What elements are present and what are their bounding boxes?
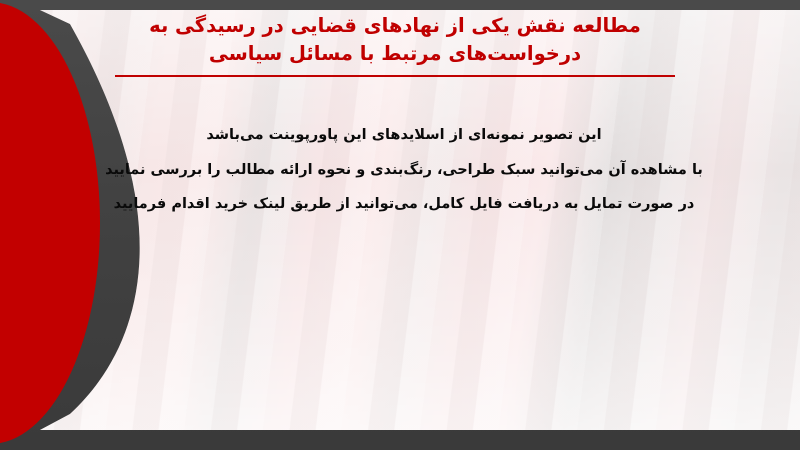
- body-line-3: در صورت تمایل به دریافت فایل کامل، می‌تو…: [104, 187, 704, 222]
- page-title: مطالعه نقش یکی از نهادهای قضایی در رسیدگ…: [100, 12, 690, 69]
- slide-title-block: مطالعه نقش یکی از نهادهای قضایی در رسیدگ…: [100, 12, 690, 77]
- title-underline-rule: [115, 75, 675, 77]
- body-line-2: با مشاهده آن می‌توانید سبک طراحی، رنگ‌بن…: [104, 153, 704, 188]
- body-line-1: این تصویر نمونه‌ای از اسلایدهای این پاور…: [104, 118, 704, 153]
- presentation-slide: مطالعه نقش یکی از نهادهای قضایی در رسیدگ…: [0, 0, 800, 450]
- slide-body-block: این تصویر نمونه‌ای از اسلایدهای این پاور…: [104, 118, 704, 222]
